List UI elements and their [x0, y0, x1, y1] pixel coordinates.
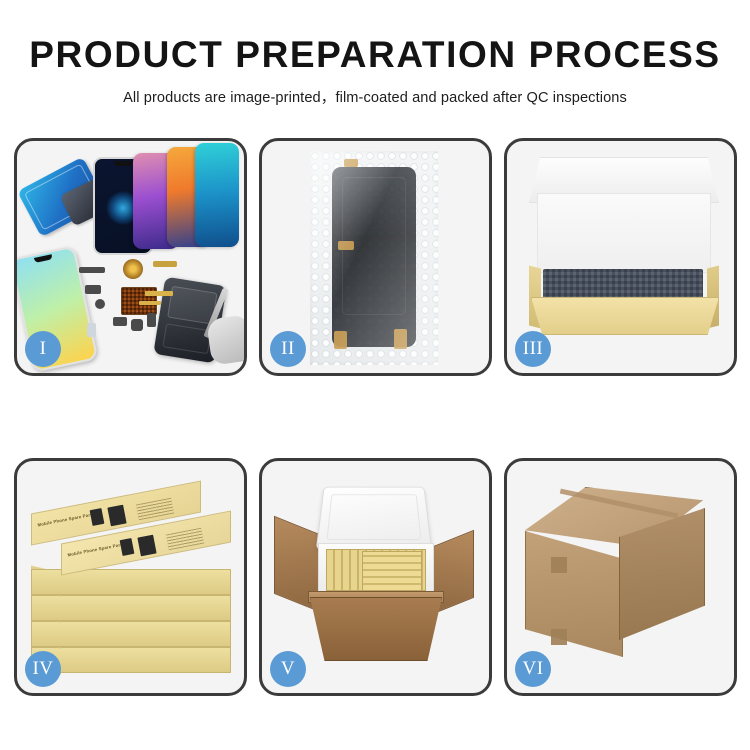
page-subtitle: All products are image-printed，film-coat… [0, 86, 750, 107]
page-title: PRODUCT PREPARATION PROCESS [0, 36, 750, 75]
chip-icon [113, 317, 127, 326]
step-panel-4[interactable]: Mobile Phone Spare Parts Mobile Phone Sp… [14, 458, 247, 696]
plastic-sheen [310, 151, 438, 365]
tape-patch-icon [551, 629, 567, 645]
bubble-foam-fill-icon [543, 269, 703, 299]
chip-icon [79, 267, 105, 273]
step-panel-3[interactable]: III [504, 138, 737, 376]
step-badge-5: V [270, 651, 306, 687]
step-badge-1: I [25, 331, 61, 367]
button-part-icon [95, 299, 105, 309]
step-panel-1[interactable]: I [14, 138, 247, 376]
flex-cable-icon [139, 301, 161, 305]
tape-patch-icon [551, 557, 567, 573]
flex-cable-icon [153, 261, 177, 267]
hand-icon [206, 314, 247, 365]
carton-front-panel-icon [310, 597, 442, 661]
chip-icon [147, 313, 156, 327]
chip-icon [85, 285, 101, 294]
speaker-coil-icon [123, 259, 143, 279]
sim-tray-icon [87, 323, 96, 337]
box-front-panel-icon [531, 297, 719, 335]
step-badge-2: II [270, 331, 306, 367]
step-panel-5[interactable]: V [259, 458, 492, 696]
stacked-box-layer [31, 647, 231, 673]
screen-graphic-icon [107, 505, 126, 527]
infographic-page: PRODUCT PREPARATION PROCESS All products… [0, 0, 750, 750]
step-panel-2[interactable]: II [259, 138, 492, 376]
step-badge-4: IV [25, 651, 61, 687]
notch-icon [34, 254, 53, 263]
yellow-boxes-fill-icon [362, 551, 422, 591]
foam-lid-icon [316, 487, 432, 550]
step-badge-3: III [515, 331, 551, 367]
bubble-wrap-sheet-icon [310, 151, 438, 365]
step-badge-6: VI [515, 651, 551, 687]
stacked-box-layer [31, 621, 231, 647]
notch-icon [114, 161, 132, 166]
phone-teal-icon [195, 143, 239, 247]
box-inner-liner-icon [537, 193, 711, 273]
screen-graphic-icon [137, 535, 156, 557]
stacked-box-layer [31, 595, 231, 621]
camera-module-icon [131, 319, 143, 331]
flex-cable-icon [145, 291, 173, 296]
header: PRODUCT PREPARATION PROCESS All products… [0, 0, 750, 107]
carton-left-face-icon [525, 531, 623, 657]
process-step-grid: I II [14, 138, 736, 738]
step-panel-6[interactable]: VI [504, 458, 737, 696]
